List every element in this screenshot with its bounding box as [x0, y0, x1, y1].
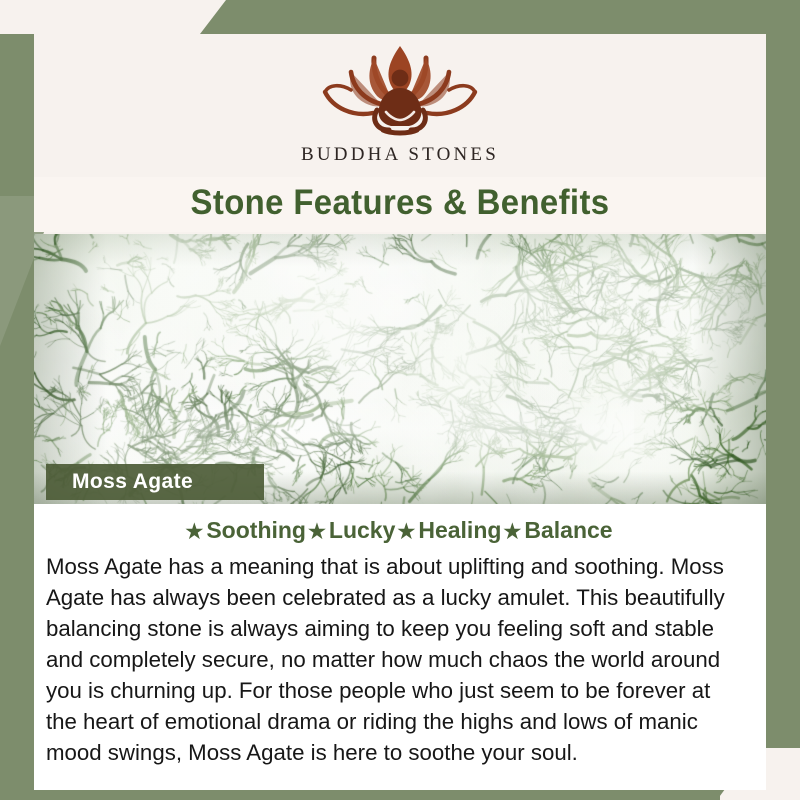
feature-label: Balance [524, 517, 612, 543]
top-green-wedge [200, 0, 800, 34]
feature-label: Soothing [206, 517, 306, 543]
right-rail [766, 0, 800, 800]
left-rail [0, 0, 34, 800]
brand-name: BUDDHA STONES [34, 144, 766, 166]
title-band: Stone Features & Benefits [34, 177, 766, 232]
star-icon: ★ [503, 521, 521, 543]
lotus-meditation-figure-icon [311, 38, 489, 142]
content-column: BUDDHA STONES Stone Features & Benefits … [34, 32, 766, 790]
page-title: Stone Features & Benefits [56, 183, 744, 223]
info-panel: ★Soothing★Lucky★Healing★Balance Moss Aga… [34, 504, 766, 790]
feature-label: Lucky [329, 517, 395, 543]
stone-name: Moss Agate [72, 470, 193, 494]
top-left-notch [0, 0, 232, 34]
feature-label: Healing [418, 517, 501, 543]
stone-name-banner: Moss Agate [46, 464, 264, 500]
star-icon: ★ [397, 521, 415, 543]
feature-list: ★Soothing★Lucky★Healing★Balance [42, 517, 758, 544]
star-icon: ★ [308, 521, 326, 543]
brand-header: BUDDHA STONES [34, 32, 766, 166]
stone-description: Moss Agate has a meaning that is about u… [42, 551, 747, 768]
star-icon: ★ [185, 521, 203, 543]
stone-photo: Moss Agate [34, 234, 766, 504]
